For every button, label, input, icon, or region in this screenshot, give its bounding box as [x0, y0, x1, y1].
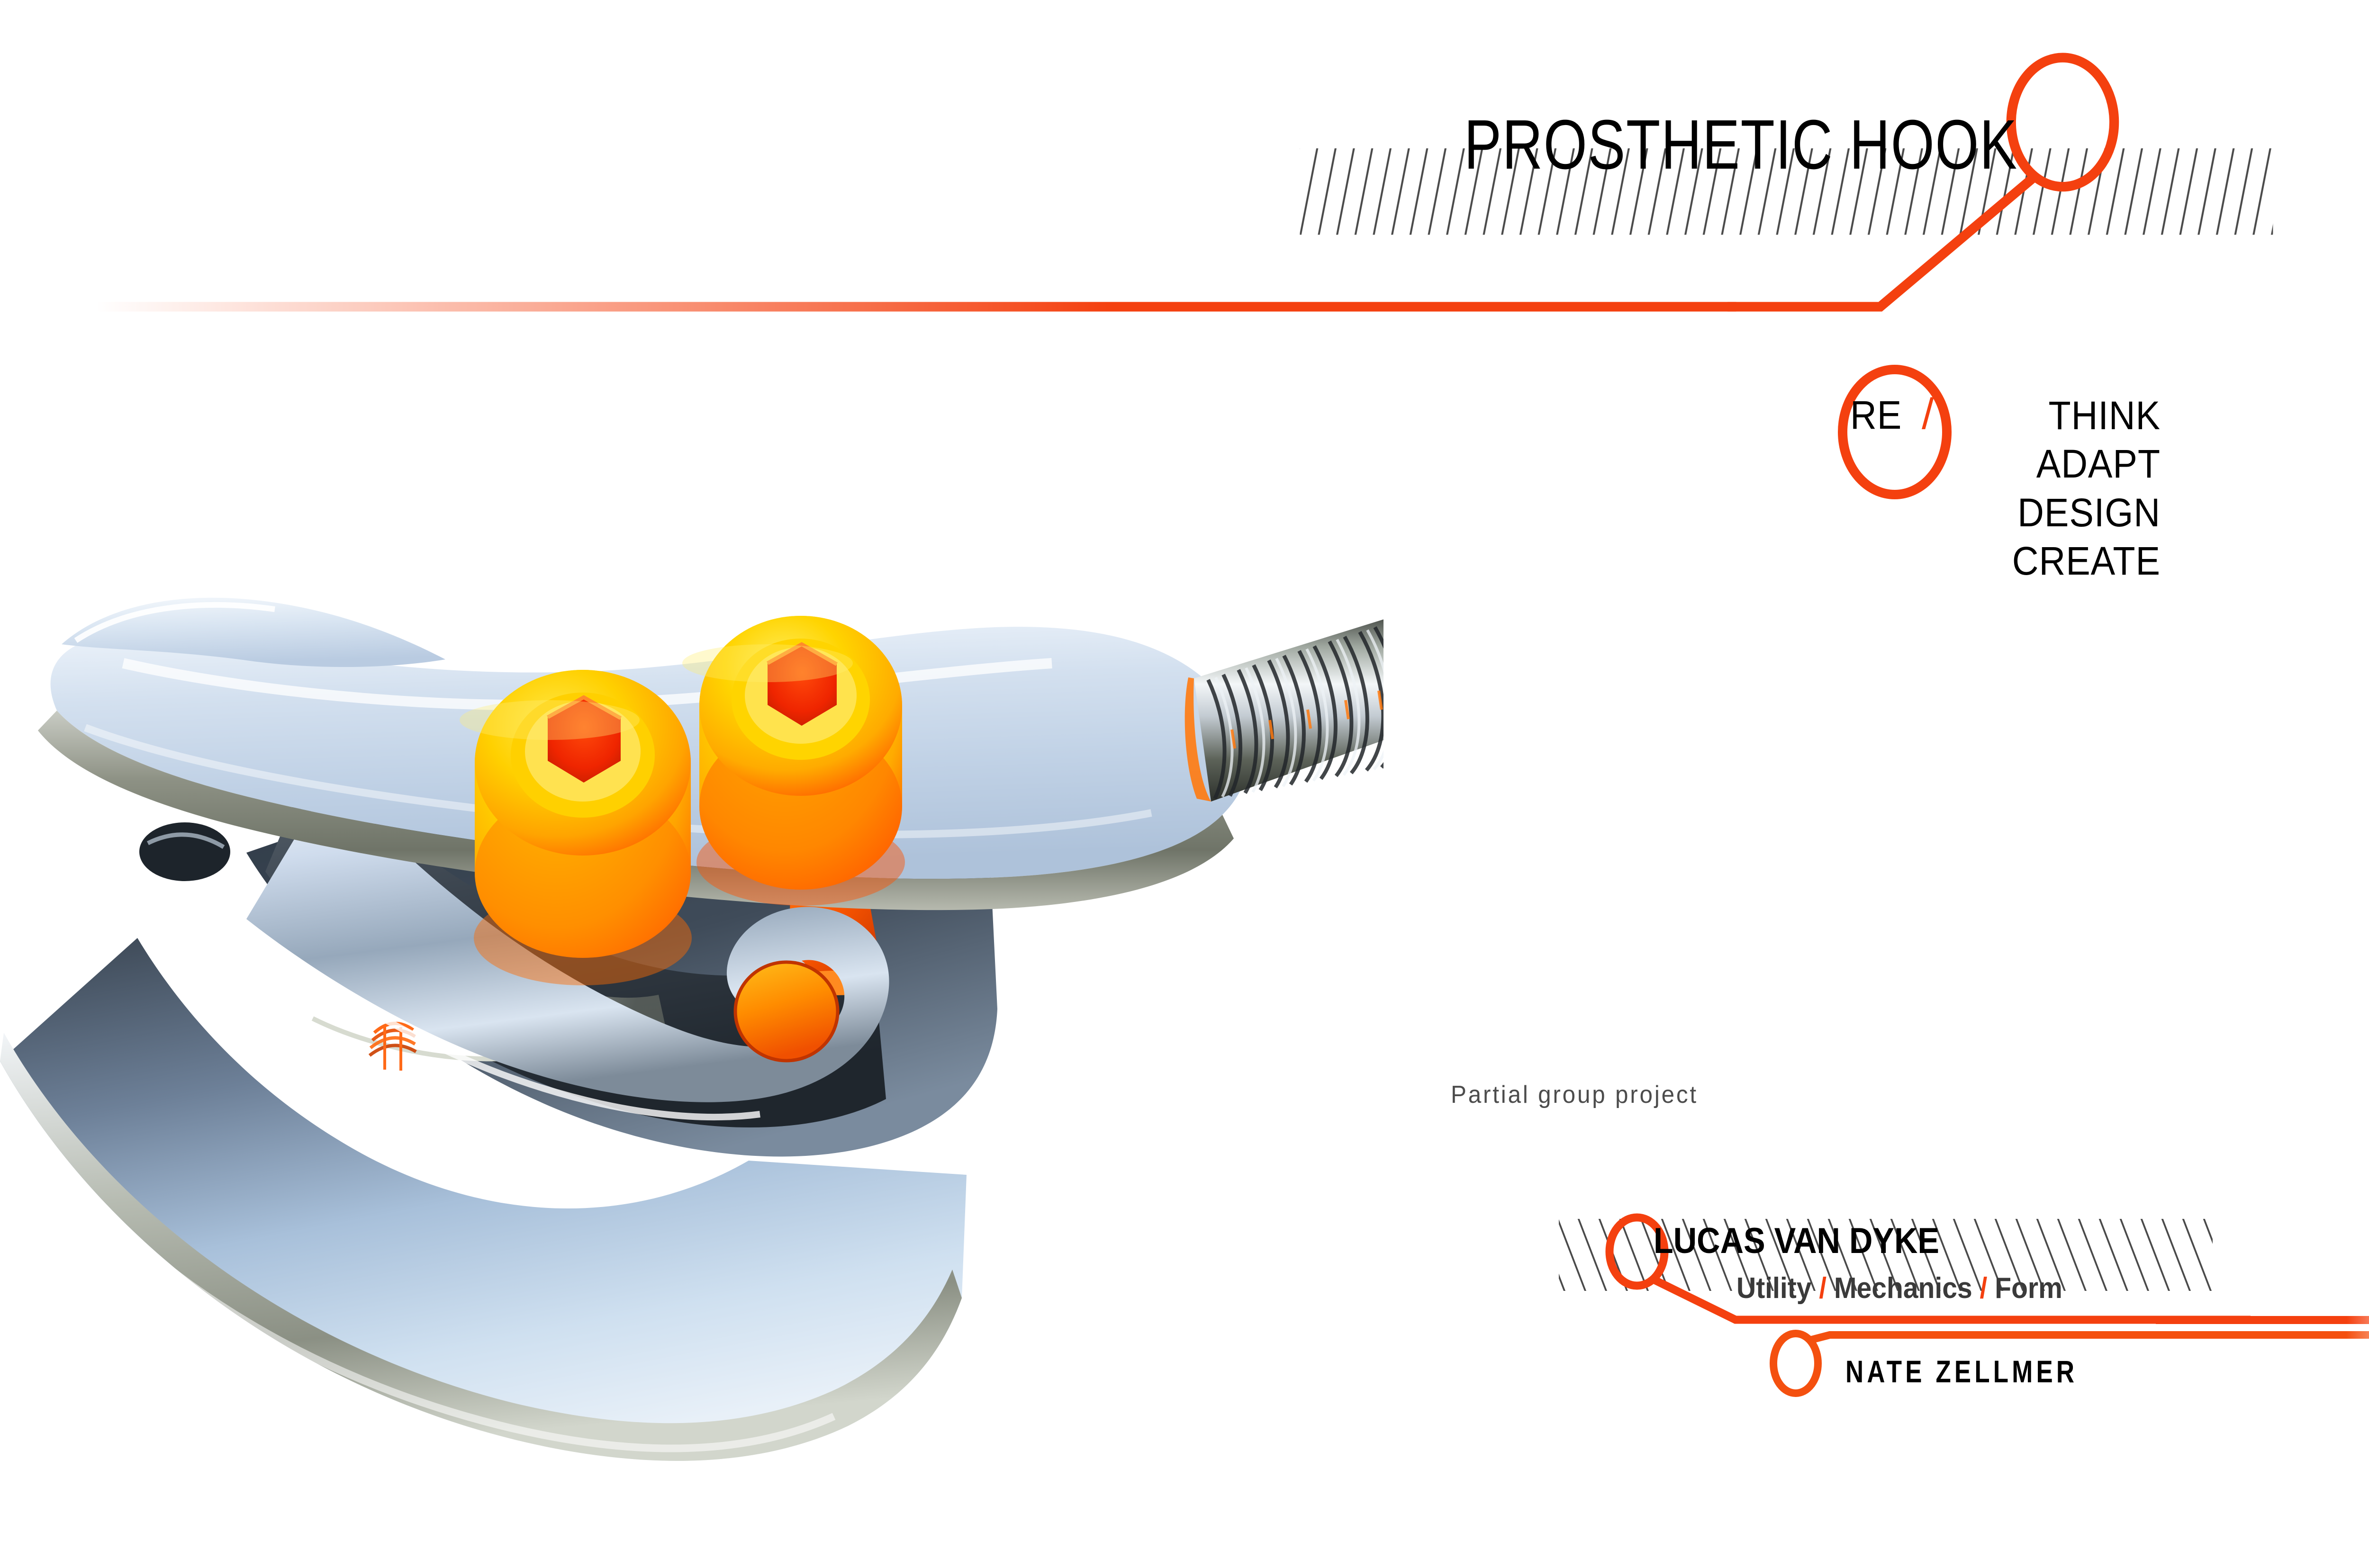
tagline-verb-create: CREATE	[1973, 537, 2161, 585]
title-circle	[2011, 58, 2114, 187]
credit-subtitle-part-2: Mechanics	[1834, 1272, 1972, 1305]
leader-line-top	[1727, 178, 2033, 307]
page-title: PROSTHETIC HOOK	[1464, 110, 2018, 180]
threaded-bolt	[1185, 612, 1383, 802]
prosthetic-hook-artwork	[0, 464, 1383, 1568]
tagline-verbs: THINK ADAPT DESIGN CREATE	[1957, 391, 2161, 586]
tagline-prefix: RE	[1850, 392, 1902, 438]
tagline-separator: /	[1922, 389, 1934, 439]
tagline-verb-adapt: ADAPT	[1973, 440, 2161, 488]
credit-subtitle-part-1: Utility	[1736, 1272, 1811, 1305]
credit-name-secondary: NATE ZELLMER	[1845, 1353, 2078, 1389]
socket-cap-front	[460, 670, 692, 985]
credit-subtitle-part-3: Form	[1995, 1272, 2062, 1305]
project-note: Partial group project	[1451, 1081, 1698, 1109]
credit-rail-secondary	[2161, 1331, 2369, 1339]
credit-subtitle-sep-2: /	[1972, 1272, 1995, 1305]
credit-rail-primary	[2156, 1316, 2369, 1324]
credit-circle-secondary	[1773, 1334, 1818, 1393]
tagline-verb-think: THINK	[1973, 391, 2161, 440]
socket-cap-rear	[682, 616, 905, 906]
left-pin-hole	[139, 822, 230, 881]
credit-leader-secondary	[1808, 1335, 2255, 1341]
credit-subtitle-sep-1: /	[1811, 1272, 1834, 1305]
poster-canvas: PROSTHETIC HOOK RE / THINK ADAPT DESIGN …	[0, 0, 2369, 1563]
credit-subtitle-primary: Utility / Mechanics / Form	[1736, 1271, 2062, 1305]
tagline-verb-design: DESIGN	[1973, 488, 2161, 537]
leader-line-top-gradient	[95, 302, 1736, 311]
credit-name-primary: LUCAS VAN DYKE	[1654, 1220, 1939, 1262]
